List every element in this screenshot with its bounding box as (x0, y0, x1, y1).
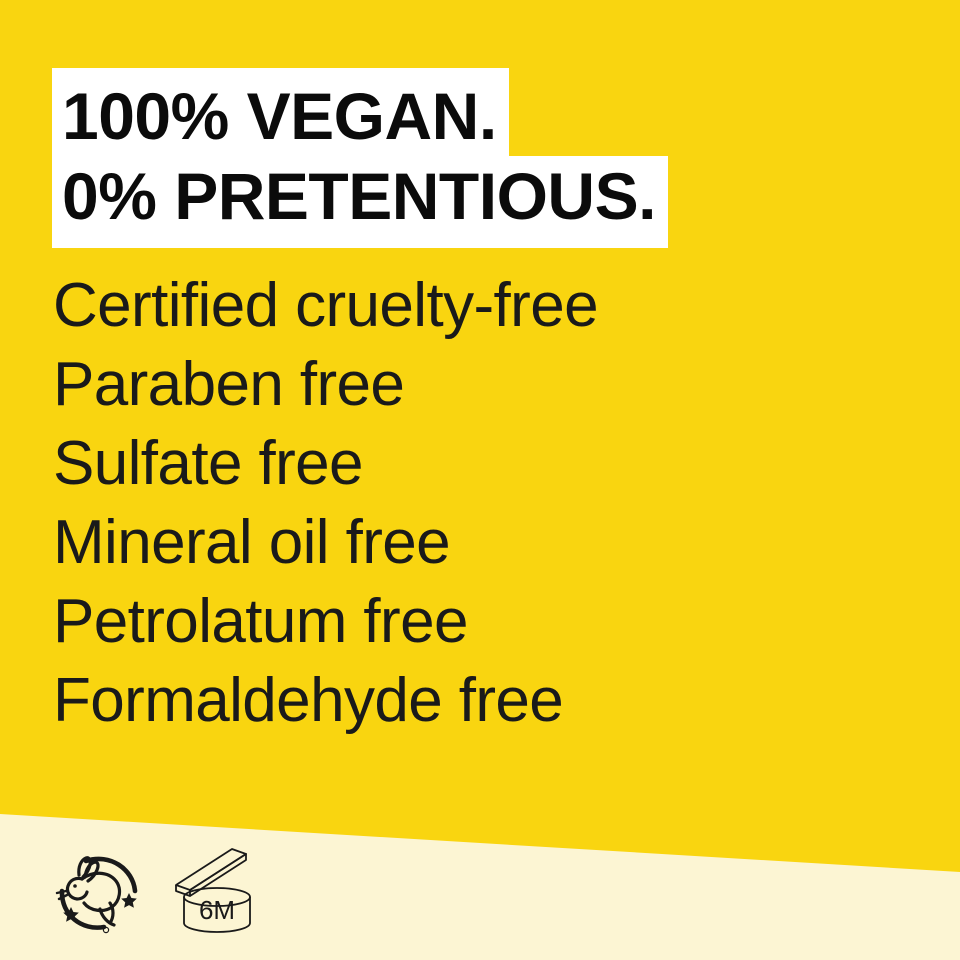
headline-line-2: 0% PRETENTIOUS. (52, 156, 668, 248)
pao-duration-label: 6M (199, 895, 235, 925)
product-claims-poster: 100% VEGAN. 0% PRETENTIOUS. Certified cr… (0, 0, 960, 960)
headline-line-1: 100% VEGAN. (52, 68, 509, 156)
headline: 100% VEGAN. 0% PRETENTIOUS. (52, 68, 752, 248)
claim-item-certified-cruelty-free: Certified cruelty-free (53, 266, 598, 345)
claim-item-formaldehyde-free: Formaldehyde free (53, 661, 598, 740)
certification-icon-row: 6M (52, 845, 258, 935)
claim-item-paraben-free: Paraben free (53, 345, 598, 424)
open-jar-icon: 6M (172, 845, 258, 935)
leaping-bunny-icon (52, 847, 144, 935)
claim-item-sulfate-free: Sulfate free (53, 424, 598, 503)
claims-list: Certified cruelty-free Paraben free Sulf… (53, 266, 598, 740)
claim-item-petrolatum-free: Petrolatum free (53, 582, 598, 661)
claim-item-mineral-oil-free: Mineral oil free (53, 503, 598, 582)
